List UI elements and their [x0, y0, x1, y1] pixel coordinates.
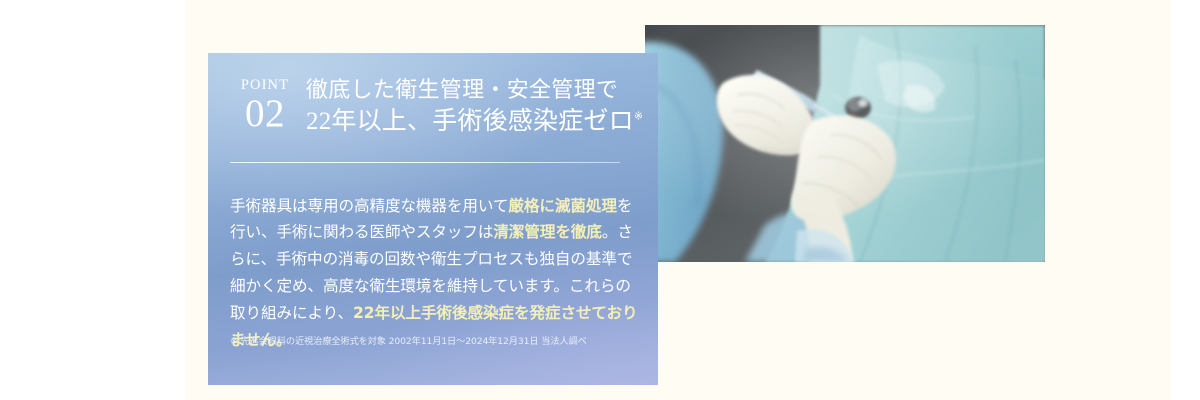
point-number: 02 — [230, 94, 300, 133]
card-footnote: ※ 先進会眼科の近視治療全術式を対象 2002年11月1日〜2024年12月31… — [230, 336, 640, 349]
surgery-photo — [645, 25, 1045, 262]
point-badge: POINT 02 — [230, 76, 300, 133]
page-root: POINT 02 徹底した衛生管理・安全管理で 22年以上、手術後感染症ゼロ※ … — [0, 0, 1200, 400]
heading-line-1: 徹底した衛生管理・安全管理で — [306, 77, 643, 103]
body-text-run: 手術器具は専用の高精度な機器を用いて — [230, 197, 508, 215]
point-label: POINT — [230, 78, 300, 93]
heading-footnote-mark: ※ — [634, 111, 643, 123]
heading-line-2-text: 22年以上、手術後感染症ゼロ — [306, 108, 634, 135]
card-heading: POINT 02 徹底した衛生管理・安全管理で 22年以上、手術後感染症ゼロ※ — [230, 76, 640, 137]
point-card: POINT 02 徹底した衛生管理・安全管理で 22年以上、手術後感染症ゼロ※ … — [208, 53, 658, 385]
heading-text: 徹底した衛生管理・安全管理で 22年以上、手術後感染症ゼロ※ — [300, 76, 643, 137]
surgery-photo-illustration — [645, 25, 1045, 262]
heading-divider — [230, 162, 620, 163]
body-highlight-run: 厳格に滅菌処理 — [508, 197, 616, 215]
heading-line-2: 22年以上、手術後感染症ゼロ※ — [306, 107, 643, 137]
body-paragraph: 手術器具は専用の高精度な機器を用いて厳格に滅菌処理を行い、手術に関わる医師やスタ… — [230, 193, 638, 354]
body-highlight-run: 清潔管理を徹底 — [493, 223, 601, 241]
